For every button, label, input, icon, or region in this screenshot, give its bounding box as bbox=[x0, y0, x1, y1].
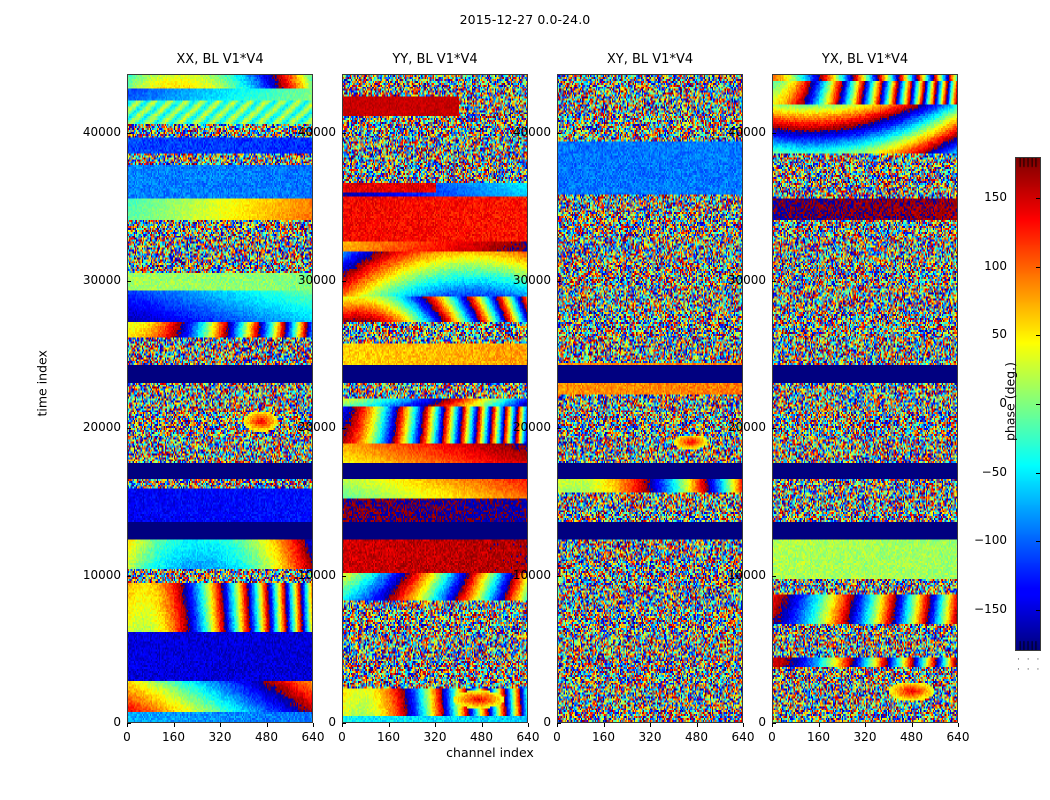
ytick-label: 30000 bbox=[250, 273, 336, 287]
ytick-label: 30000 bbox=[680, 273, 766, 287]
waterfall-image-yy bbox=[343, 75, 527, 722]
figure-canvas: 2015-12-27 0.0-24.0 time index channel i… bbox=[0, 0, 1050, 800]
ytick-label: 10000 bbox=[35, 568, 121, 582]
x-axis-label: channel index bbox=[380, 745, 600, 760]
ytick-mark bbox=[772, 576, 776, 577]
ytick-mark bbox=[342, 576, 346, 577]
ytick-label: 40000 bbox=[35, 125, 121, 139]
ytick-label: 10000 bbox=[250, 568, 336, 582]
ytick-mark bbox=[772, 281, 776, 282]
xtick-mark bbox=[389, 723, 390, 727]
colorbar-tick-mark bbox=[1036, 404, 1040, 405]
xtick-mark bbox=[912, 723, 913, 727]
waterfall-panel-yx[interactable] bbox=[772, 74, 958, 723]
colorbar-tick-label: 50 bbox=[937, 327, 1007, 341]
ytick-mark bbox=[557, 133, 561, 134]
ytick-mark bbox=[342, 428, 346, 429]
colorbar-tick-label: 0 bbox=[937, 396, 1007, 410]
ytick-label: 0 bbox=[465, 715, 551, 729]
colorbar-tick-label: 150 bbox=[937, 190, 1007, 204]
ytick-mark bbox=[557, 281, 561, 282]
ytick-label: 40000 bbox=[250, 125, 336, 139]
waterfall-image-xy bbox=[558, 75, 742, 722]
colorbar-tick-label: −150 bbox=[937, 602, 1007, 616]
ytick-mark bbox=[342, 281, 346, 282]
xtick-mark bbox=[127, 723, 128, 727]
xtick-mark bbox=[174, 723, 175, 727]
xtick-mark bbox=[435, 723, 436, 727]
waterfall-panel-xx[interactable] bbox=[127, 74, 313, 723]
colorbar-tick-mark bbox=[1036, 610, 1040, 611]
figure-suptitle: 2015-12-27 0.0-24.0 bbox=[0, 12, 1050, 27]
xtick-mark bbox=[557, 723, 558, 727]
ytick-mark bbox=[127, 428, 131, 429]
waterfall-panel-yy[interactable] bbox=[342, 74, 528, 723]
ytick-label: 20000 bbox=[250, 420, 336, 434]
xtick-mark bbox=[604, 723, 605, 727]
colorbar-label: phase (deg.) bbox=[1003, 347, 1018, 457]
ytick-label: 10000 bbox=[680, 568, 766, 582]
colorbar-tick-mark bbox=[1036, 267, 1040, 268]
colorbar-tick-mark bbox=[1036, 541, 1040, 542]
ytick-label: 40000 bbox=[680, 125, 766, 139]
xtick-mark bbox=[342, 723, 343, 727]
ytick-label: 0 bbox=[35, 715, 121, 729]
ytick-label: 30000 bbox=[465, 273, 551, 287]
ytick-label: 0 bbox=[680, 715, 766, 729]
xtick-mark bbox=[650, 723, 651, 727]
panel-title-yy: YY, BL V1*V4 bbox=[342, 52, 528, 67]
waterfall-image-yx bbox=[773, 75, 957, 722]
ytick-label: 20000 bbox=[35, 420, 121, 434]
ytick-label: 0 bbox=[250, 715, 336, 729]
colorbar-tick-mark bbox=[1036, 198, 1040, 199]
ytick-mark bbox=[772, 133, 776, 134]
ytick-label: 40000 bbox=[465, 125, 551, 139]
colorbar-tick-mark bbox=[1036, 335, 1040, 336]
ytick-mark bbox=[772, 428, 776, 429]
colorbar-tick-label: 100 bbox=[937, 259, 1007, 273]
xtick-mark bbox=[220, 723, 221, 727]
ytick-mark bbox=[342, 133, 346, 134]
panel-title-yx: YX, BL V1*V4 bbox=[772, 52, 958, 67]
ytick-label: 20000 bbox=[465, 420, 551, 434]
colorbar-tick-label: −100 bbox=[937, 533, 1007, 547]
ytick-mark bbox=[557, 576, 561, 577]
ytick-mark bbox=[557, 428, 561, 429]
ytick-mark bbox=[127, 281, 131, 282]
xtick-label: 640 bbox=[928, 730, 988, 744]
panel-title-xx: XX, BL V1*V4 bbox=[127, 52, 313, 67]
waterfall-image-xx bbox=[128, 75, 312, 722]
y-axis-label: time index bbox=[35, 376, 50, 416]
waterfall-panel-xy[interactable] bbox=[557, 74, 743, 723]
ytick-label: 20000 bbox=[680, 420, 766, 434]
colorbar-tick-label: −50 bbox=[937, 465, 1007, 479]
ytick-label: 30000 bbox=[35, 273, 121, 287]
xtick-mark bbox=[819, 723, 820, 727]
ytick-mark bbox=[127, 133, 131, 134]
xtick-mark bbox=[958, 723, 959, 727]
xtick-mark bbox=[772, 723, 773, 727]
colorbar-tick-mark bbox=[1036, 473, 1040, 474]
xtick-mark bbox=[865, 723, 866, 727]
panel-title-xy: XY, BL V1*V4 bbox=[557, 52, 743, 67]
ytick-mark bbox=[127, 576, 131, 577]
ytick-label: 10000 bbox=[465, 568, 551, 582]
colorbar-underflow-dots: · · · · · · bbox=[1017, 655, 1050, 675]
